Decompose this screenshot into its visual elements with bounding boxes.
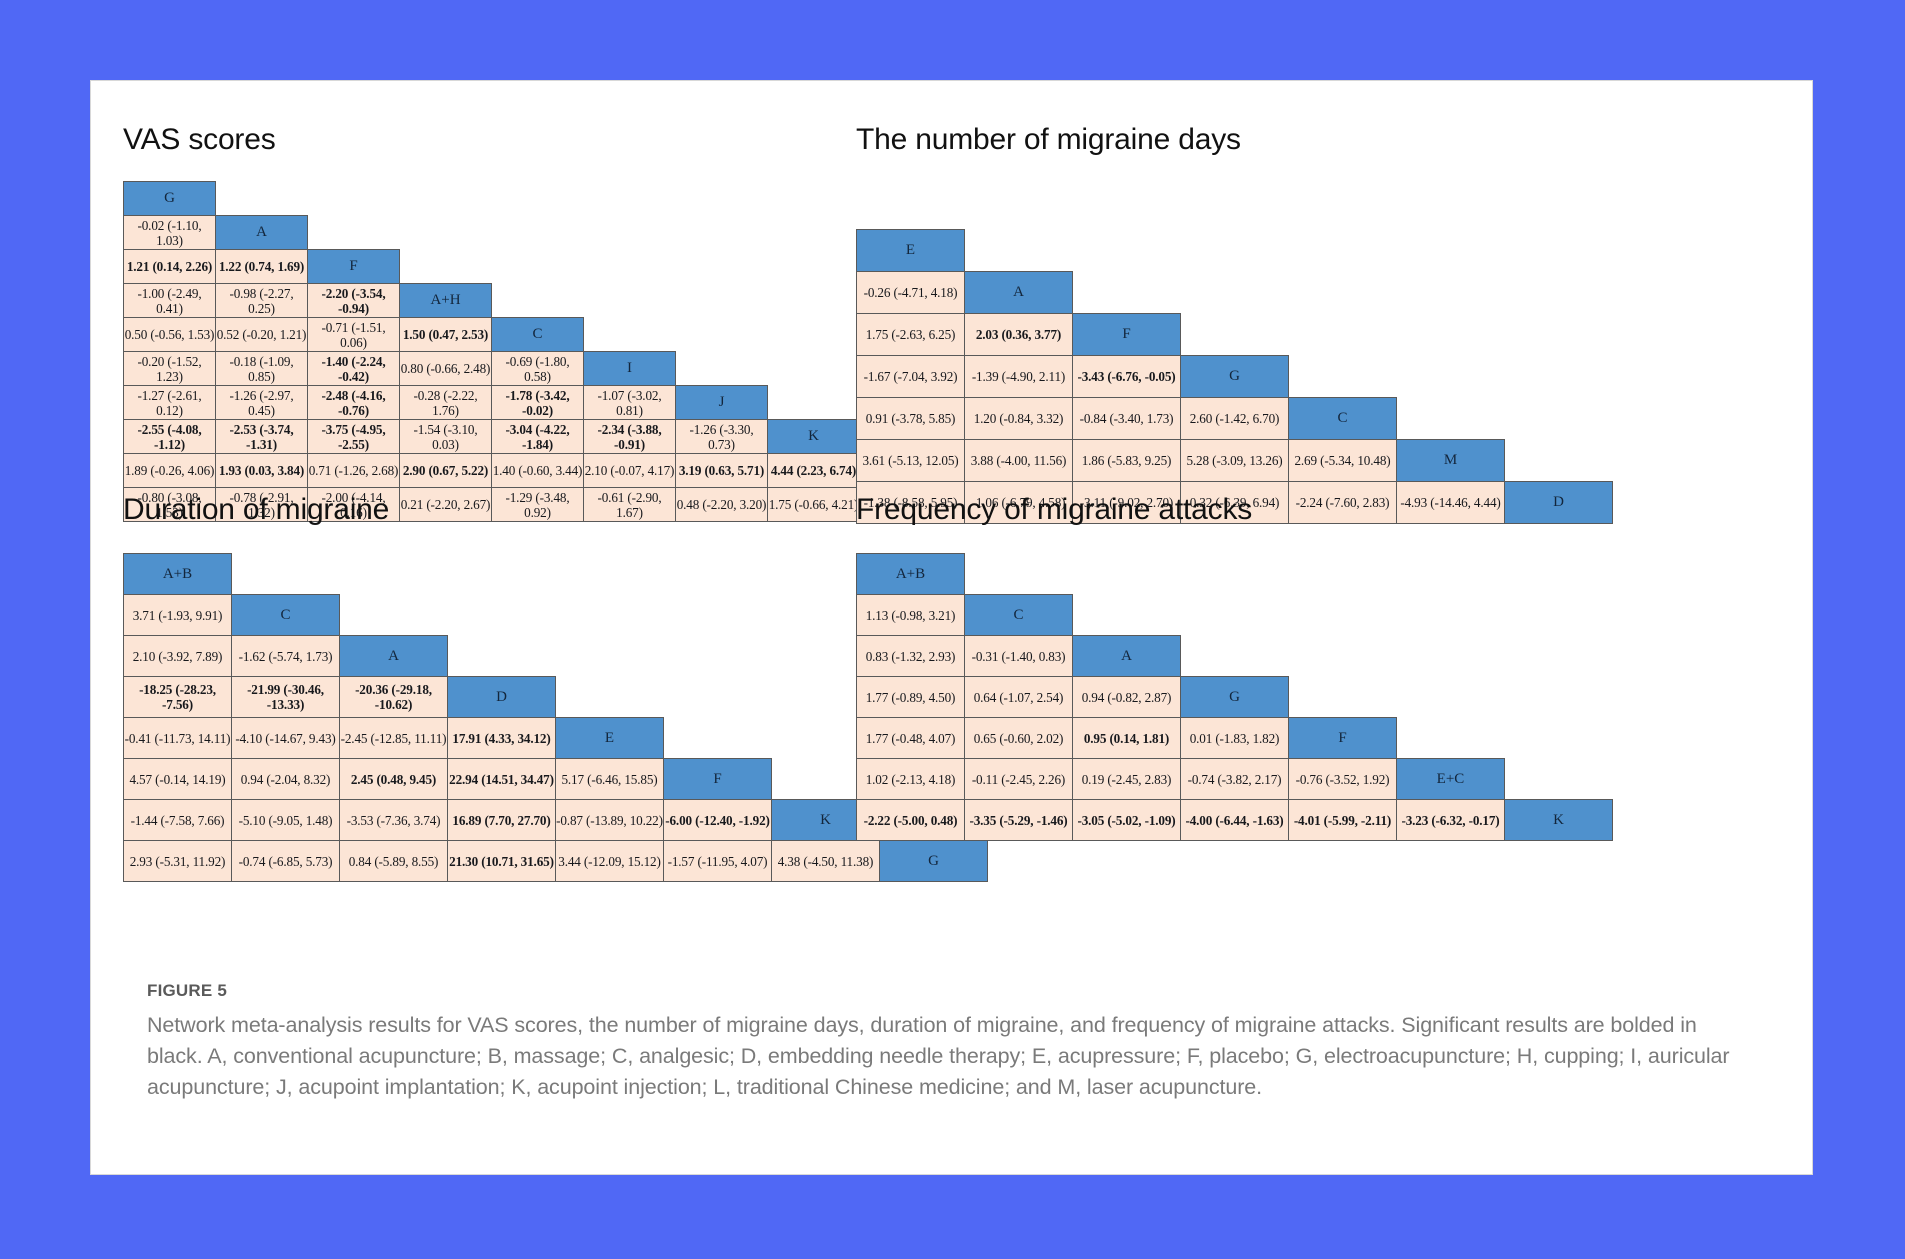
effect-estimate-cell: 1.22 (0.74, 1.69) (216, 250, 308, 284)
spacer-cell (1289, 230, 1397, 272)
treatment-header-cell: K (768, 420, 860, 454)
spacer-cell (768, 250, 860, 284)
spacer-cell (676, 318, 768, 352)
effect-estimate-cell: -4.93 (-14.46, 4.44) (1397, 482, 1505, 524)
spacer-cell (232, 554, 340, 595)
effect-estimate-cell: -1.26 (-3.30, 0.73) (676, 420, 768, 454)
effect-estimate-cell: -0.74 (-6.85, 5.73) (232, 841, 340, 882)
effect-estimate-cell: 1.89 (-0.26, 4.06) (124, 454, 216, 488)
effect-estimate-cell: -1.07 (-3.02, 0.81) (584, 386, 676, 420)
effect-estimate-cell: 0.52 (-0.20, 1.21) (216, 318, 308, 352)
effect-estimate-cell: -1.57 (-11.95, 4.07) (664, 841, 772, 882)
effect-estimate-cell: -3.75 (-4.95, -2.55) (308, 420, 400, 454)
effect-estimate-cell: 0.95 (0.14, 1.81) (1073, 718, 1181, 759)
treatment-header-cell: A+B (124, 554, 232, 595)
table-row: 2.93 (-5.31, 11.92)-0.74 (-6.85, 5.73)0.… (124, 841, 988, 882)
spacer-cell (676, 250, 768, 284)
spacer-cell (965, 554, 1073, 595)
spacer-cell (952, 182, 1044, 216)
spacer-cell (1505, 554, 1613, 595)
spacer-cell (1073, 595, 1181, 636)
treatment-header-cell: G (880, 841, 988, 882)
spacer-cell (768, 284, 860, 318)
effect-estimate-cell: 3.19 (0.63, 5.71) (676, 454, 768, 488)
effect-estimate-cell: 1.13 (-0.98, 3.21) (857, 595, 965, 636)
table-row: 1.13 (-0.98, 3.21)C (857, 595, 1613, 636)
treatment-header-cell: F (1289, 718, 1397, 759)
table-row: 1.02 (-2.13, 4.18)-0.11 (-2.45, 2.26)0.1… (857, 759, 1613, 800)
spacer-cell (1289, 272, 1397, 314)
spacer-cell (340, 554, 448, 595)
spacer-cell (492, 216, 584, 250)
spacer-cell (556, 677, 664, 718)
treatment-header-cell: G (1181, 677, 1289, 718)
figure-caption-body: Network meta-analysis results for VAS sc… (147, 1010, 1758, 1103)
effect-estimate-cell: -2.34 (-3.88, -0.91) (584, 420, 676, 454)
spacer-cell (664, 677, 772, 718)
effect-estimate-cell: -20.36 (-29.18, -10.62) (340, 677, 448, 718)
treatment-header-cell: A+B (857, 554, 965, 595)
effect-estimate-cell: 1.75 (-2.63, 6.25) (857, 314, 965, 356)
table-row: 1.77 (-0.48, 4.07)0.65 (-0.60, 2.02)0.95… (857, 718, 1613, 759)
panel-title-duration: Duration of migraine (123, 493, 389, 527)
treatment-header-cell: J (676, 386, 768, 420)
effect-estimate-cell: -0.11 (-2.45, 2.26) (965, 759, 1073, 800)
treatment-header-cell: A+H (400, 284, 492, 318)
effect-estimate-cell: 16.89 (7.70, 27.70) (448, 800, 556, 841)
spacer-cell (308, 182, 400, 216)
spacer-cell (556, 636, 664, 677)
effect-estimate-cell: 3.88 (-4.00, 11.56) (965, 440, 1073, 482)
effect-estimate-cell: -1.40 (-2.24, -0.42) (308, 352, 400, 386)
spacer-cell (584, 250, 676, 284)
effect-estimate-cell: 0.71 (-1.26, 2.68) (308, 454, 400, 488)
spacer-cell (1505, 595, 1613, 636)
league-table-frequency: A+B1.13 (-0.98, 3.21)C0.83 (-1.32, 2.93)… (856, 553, 1613, 841)
spacer-cell (584, 284, 676, 318)
effect-estimate-cell: -1.44 (-7.58, 7.66) (124, 800, 232, 841)
spacer-cell (400, 216, 492, 250)
spacer-cell (584, 318, 676, 352)
spacer-cell (1505, 272, 1613, 314)
effect-estimate-cell: -2.45 (-12.85, 11.11) (340, 718, 448, 759)
effect-estimate-cell: 0.94 (-2.04, 8.32) (232, 759, 340, 800)
effect-estimate-cell: -1.78 (-3.42, -0.02) (492, 386, 584, 420)
spacer-cell (1505, 440, 1613, 482)
spacer-cell (676, 216, 768, 250)
effect-estimate-cell: -0.26 (-4.71, 4.18) (857, 272, 965, 314)
spacer-cell (768, 318, 860, 352)
spacer-cell (556, 554, 664, 595)
effect-estimate-cell: -1.27 (-2.61, 0.12) (124, 386, 216, 420)
effect-estimate-cell: -0.31 (-1.40, 0.83) (965, 636, 1073, 677)
effect-estimate-cell: -5.10 (-9.05, 1.48) (232, 800, 340, 841)
spacer-cell (400, 182, 492, 216)
effect-estimate-cell: -1.54 (-3.10, 0.03) (400, 420, 492, 454)
effect-estimate-cell: 0.83 (-1.32, 2.93) (857, 636, 965, 677)
spacer-cell (1181, 314, 1289, 356)
effect-estimate-cell: -0.41 (-11.73, 14.11) (124, 718, 232, 759)
effect-estimate-cell: -18.25 (-28.23, -7.56) (124, 677, 232, 718)
figure-paper: VAS scores G-0.02 (-1.10, 1.03)A1.21 (0.… (90, 80, 1813, 1175)
treatment-header-cell: A (1073, 636, 1181, 677)
table-row: 0.83 (-1.32, 2.93)-0.31 (-1.40, 0.83)A (857, 636, 1613, 677)
treatment-header-cell: F (664, 759, 772, 800)
table-row: -1.67 (-7.04, 3.92)-1.39 (-4.90, 2.11)-3… (857, 356, 1613, 398)
effect-estimate-cell: 2.90 (0.67, 5.22) (400, 454, 492, 488)
effect-estimate-cell: 2.69 (-5.34, 10.48) (1289, 440, 1397, 482)
spacer-cell (1289, 356, 1397, 398)
treatment-header-cell: E+C (1397, 759, 1505, 800)
effect-estimate-cell: 0.65 (-0.60, 2.02) (965, 718, 1073, 759)
effect-estimate-cell: 17.91 (4.33, 34.12) (448, 718, 556, 759)
treatment-header-cell: I (584, 352, 676, 386)
effect-estimate-cell: -1.39 (-4.90, 2.11) (965, 356, 1073, 398)
league-table-migraine-days: E-0.26 (-4.71, 4.18)A1.75 (-2.63, 6.25)2… (856, 229, 1613, 524)
effect-estimate-cell: -1.26 (-2.97, 0.45) (216, 386, 308, 420)
spacer-cell (1181, 272, 1289, 314)
effect-estimate-cell: -0.20 (-1.52, 1.23) (124, 352, 216, 386)
spacer-cell (1397, 677, 1505, 718)
effect-estimate-cell: -0.98 (-2.27, 0.25) (216, 284, 308, 318)
spacer-cell (1505, 230, 1613, 272)
effect-estimate-cell: 22.94 (14.51, 34.47) (448, 759, 556, 800)
effect-estimate-cell: 0.50 (-0.56, 1.53) (124, 318, 216, 352)
treatment-header-cell: C (965, 595, 1073, 636)
panel-title-migraine-days: The number of migraine days (856, 123, 1241, 157)
treatment-header-cell: C (492, 318, 584, 352)
spacer-cell (1505, 677, 1613, 718)
spacer-cell (860, 182, 952, 216)
effect-estimate-cell: -0.28 (-2.22, 1.76) (400, 386, 492, 420)
effect-estimate-cell: -4.10 (-14.67, 9.43) (232, 718, 340, 759)
table-row: 1.77 (-0.89, 4.50)0.64 (-1.07, 2.54)0.94… (857, 677, 1613, 718)
spacer-cell (1073, 554, 1181, 595)
screenshot-root: VAS scores G-0.02 (-1.10, 1.03)A1.21 (0.… (0, 0, 1905, 1259)
spacer-cell (768, 386, 860, 420)
effect-estimate-cell: -3.23 (-6.32, -0.17) (1397, 800, 1505, 841)
effect-estimate-cell: -1.29 (-3.48, 0.92) (492, 488, 584, 522)
effect-estimate-cell: -0.84 (-3.40, 1.73) (1073, 398, 1181, 440)
spacer-cell (308, 216, 400, 250)
effect-estimate-cell: -1.00 (-2.49, 0.41) (124, 284, 216, 318)
spacer-cell (1397, 595, 1505, 636)
effect-estimate-cell: -3.04 (-4.22, -1.84) (492, 420, 584, 454)
effect-estimate-cell: 3.71 (-1.93, 9.91) (124, 595, 232, 636)
spacer-cell (1397, 314, 1505, 356)
effect-estimate-cell: 1.20 (-0.84, 3.32) (965, 398, 1073, 440)
effect-estimate-cell: -3.43 (-6.76, -0.05) (1073, 356, 1181, 398)
spacer-cell (1397, 230, 1505, 272)
effect-estimate-cell: 5.17 (-6.46, 15.85) (556, 759, 664, 800)
effect-estimate-cell: 0.91 (-3.78, 5.85) (857, 398, 965, 440)
treatment-header-cell: G (124, 182, 216, 216)
spacer-cell (965, 230, 1073, 272)
effect-estimate-cell: 0.48 (-2.20, 3.20) (676, 488, 768, 522)
effect-estimate-cell: -2.48 (-4.16, -0.76) (308, 386, 400, 420)
effect-estimate-cell: -0.76 (-3.52, 1.92) (1289, 759, 1397, 800)
spacer-cell (1181, 636, 1289, 677)
spacer-cell (448, 636, 556, 677)
effect-estimate-cell: 0.21 (-2.20, 2.67) (400, 488, 492, 522)
spacer-cell (492, 250, 584, 284)
figure-caption-label: FIGURE 5 (147, 981, 1758, 1001)
panel-title-frequency: Frequency of migraine attacks (856, 493, 1252, 527)
effect-estimate-cell: -0.87 (-13.89, 10.22) (556, 800, 664, 841)
effect-estimate-cell: 1.50 (0.47, 2.53) (400, 318, 492, 352)
spacer-cell (216, 182, 308, 216)
effect-estimate-cell: -0.61 (-2.90, 1.67) (584, 488, 676, 522)
spacer-cell (1073, 230, 1181, 272)
spacer-cell (1397, 356, 1505, 398)
effect-estimate-cell: -3.53 (-7.36, 3.74) (340, 800, 448, 841)
effect-estimate-cell: 0.19 (-2.45, 2.83) (1073, 759, 1181, 800)
table-row: 3.61 (-5.13, 12.05)3.88 (-4.00, 11.56)1.… (857, 440, 1613, 482)
effect-estimate-cell: 3.61 (-5.13, 12.05) (857, 440, 965, 482)
effect-estimate-cell: 0.64 (-1.07, 2.54) (965, 677, 1073, 718)
spacer-cell (1181, 230, 1289, 272)
effect-estimate-cell: 5.28 (-3.09, 13.26) (1181, 440, 1289, 482)
effect-estimate-cell: 1.86 (-5.83, 9.25) (1073, 440, 1181, 482)
spacer-cell (1505, 718, 1613, 759)
effect-estimate-cell: 1.77 (-0.48, 4.07) (857, 718, 965, 759)
spacer-cell (1397, 636, 1505, 677)
spacer-cell (448, 595, 556, 636)
spacer-cell (1505, 314, 1613, 356)
spacer-cell (664, 636, 772, 677)
effect-estimate-cell: 1.93 (0.03, 3.84) (216, 454, 308, 488)
spacer-cell (492, 182, 584, 216)
table-row: -0.26 (-4.71, 4.18)A (857, 272, 1613, 314)
spacer-cell (1505, 759, 1613, 800)
effect-estimate-cell: -2.55 (-4.08, -1.12) (124, 420, 216, 454)
effect-estimate-cell: -0.69 (-1.80, 0.58) (492, 352, 584, 386)
spacer-cell (1181, 595, 1289, 636)
treatment-header-cell: A (965, 272, 1073, 314)
effect-estimate-cell: -1.67 (-7.04, 3.92) (857, 356, 965, 398)
spacer-cell (1289, 595, 1397, 636)
spacer-cell (340, 595, 448, 636)
spacer-cell (584, 182, 676, 216)
table-row: G (124, 182, 1044, 216)
effect-estimate-cell: -1.62 (-5.74, 1.73) (232, 636, 340, 677)
effect-estimate-cell: -6.00 (-12.40, -1.92) (664, 800, 772, 841)
effect-estimate-cell: 1.21 (0.14, 2.26) (124, 250, 216, 284)
spacer-cell (1505, 398, 1613, 440)
effect-estimate-cell: -3.05 (-5.02, -1.09) (1073, 800, 1181, 841)
spacer-cell (676, 284, 768, 318)
treatment-header-cell: M (1397, 440, 1505, 482)
effect-estimate-cell: -4.00 (-6.44, -1.63) (1181, 800, 1289, 841)
effect-estimate-cell: 2.03 (0.36, 3.77) (965, 314, 1073, 356)
spacer-cell (1397, 554, 1505, 595)
spacer-cell (1289, 677, 1397, 718)
effect-estimate-cell: -21.99 (-30.46, -13.33) (232, 677, 340, 718)
spacer-cell (400, 250, 492, 284)
treatment-header-cell: A (340, 636, 448, 677)
effect-estimate-cell: 2.45 (0.48, 9.45) (340, 759, 448, 800)
spacer-cell (664, 595, 772, 636)
treatment-header-cell: E (556, 718, 664, 759)
table-row: -2.22 (-5.00, 0.48)-3.35 (-5.29, -1.46)-… (857, 800, 1613, 841)
spacer-cell (768, 182, 860, 216)
effect-estimate-cell: 2.60 (-1.42, 6.70) (1181, 398, 1289, 440)
treatment-header-cell: E (857, 230, 965, 272)
spacer-cell (556, 595, 664, 636)
table-row: E (857, 230, 1613, 272)
treatment-header-cell: A (216, 216, 308, 250)
spacer-cell (768, 216, 860, 250)
spacer-cell (1505, 636, 1613, 677)
table-row: 1.75 (-2.63, 6.25)2.03 (0.36, 3.77)F (857, 314, 1613, 356)
spacer-cell (1289, 554, 1397, 595)
spacer-cell (676, 352, 768, 386)
effect-estimate-cell: 4.38 (-4.50, 11.38) (772, 841, 880, 882)
treatment-header-cell: D (448, 677, 556, 718)
figure-graphic: VAS scores G-0.02 (-1.10, 1.03)A1.21 (0.… (91, 81, 1814, 981)
treatment-header-cell: D (1505, 482, 1613, 524)
effect-estimate-cell: -2.53 (-3.74, -1.31) (216, 420, 308, 454)
spacer-cell (664, 718, 772, 759)
effect-estimate-cell: -0.74 (-3.82, 2.17) (1181, 759, 1289, 800)
spacer-cell (1289, 314, 1397, 356)
effect-estimate-cell: -0.71 (-1.51, 0.06) (308, 318, 400, 352)
treatment-header-cell: C (1289, 398, 1397, 440)
effect-estimate-cell: 2.93 (-5.31, 11.92) (124, 841, 232, 882)
effect-estimate-cell: -2.22 (-5.00, 0.48) (857, 800, 965, 841)
spacer-cell (1289, 636, 1397, 677)
spacer-cell (1505, 356, 1613, 398)
spacer-cell (448, 554, 556, 595)
figure-caption: FIGURE 5 Network meta-analysis results f… (91, 981, 1814, 1103)
spacer-cell (664, 554, 772, 595)
spacer-cell (1397, 398, 1505, 440)
spacer-cell (584, 216, 676, 250)
panel-title-vas: VAS scores (123, 123, 276, 157)
effect-estimate-cell: 0.80 (-0.66, 2.48) (400, 352, 492, 386)
treatment-header-cell: G (1181, 356, 1289, 398)
effect-estimate-cell: -4.01 (-5.99, -2.11) (1289, 800, 1397, 841)
spacer-cell (768, 352, 860, 386)
effect-estimate-cell: 0.01 (-1.83, 1.82) (1181, 718, 1289, 759)
spacer-cell (1073, 272, 1181, 314)
treatment-header-cell: K (1505, 800, 1613, 841)
spacer-cell (1397, 718, 1505, 759)
spacer-cell (676, 182, 768, 216)
effect-estimate-cell: -0.02 (-1.10, 1.03) (124, 216, 216, 250)
effect-estimate-cell: 2.10 (-3.92, 7.89) (124, 636, 232, 677)
effect-estimate-cell: -3.35 (-5.29, -1.46) (965, 800, 1073, 841)
table-row: A+B (857, 554, 1613, 595)
spacer-cell (492, 284, 584, 318)
effect-estimate-cell: -0.18 (-1.09, 0.85) (216, 352, 308, 386)
effect-estimate-cell: 3.44 (-12.09, 15.12) (556, 841, 664, 882)
effect-estimate-cell: 0.84 (-5.89, 8.55) (340, 841, 448, 882)
effect-estimate-cell: -2.24 (-7.60, 2.83) (1289, 482, 1397, 524)
effect-estimate-cell: -2.20 (-3.54, -0.94) (308, 284, 400, 318)
effect-estimate-cell: 0.94 (-0.82, 2.87) (1073, 677, 1181, 718)
effect-estimate-cell: 2.10 (-0.07, 4.17) (584, 454, 676, 488)
spacer-cell (1181, 554, 1289, 595)
treatment-header-cell: C (232, 595, 340, 636)
effect-estimate-cell: 1.75 (-0.66, 4.21) (768, 488, 860, 522)
table-row: 0.91 (-3.78, 5.85)1.20 (-0.84, 3.32)-0.8… (857, 398, 1613, 440)
treatment-header-cell: F (1073, 314, 1181, 356)
effect-estimate-cell: 21.30 (10.71, 31.65) (448, 841, 556, 882)
effect-estimate-cell: 1.40 (-0.60, 3.44) (492, 454, 584, 488)
effect-estimate-cell: 1.77 (-0.89, 4.50) (857, 677, 965, 718)
treatment-header-cell: F (308, 250, 400, 284)
effect-estimate-cell: 4.44 (2.23, 6.74) (768, 454, 860, 488)
effect-estimate-cell: 1.02 (-2.13, 4.18) (857, 759, 965, 800)
effect-estimate-cell: 4.57 (-0.14, 14.19) (124, 759, 232, 800)
spacer-cell (1397, 272, 1505, 314)
